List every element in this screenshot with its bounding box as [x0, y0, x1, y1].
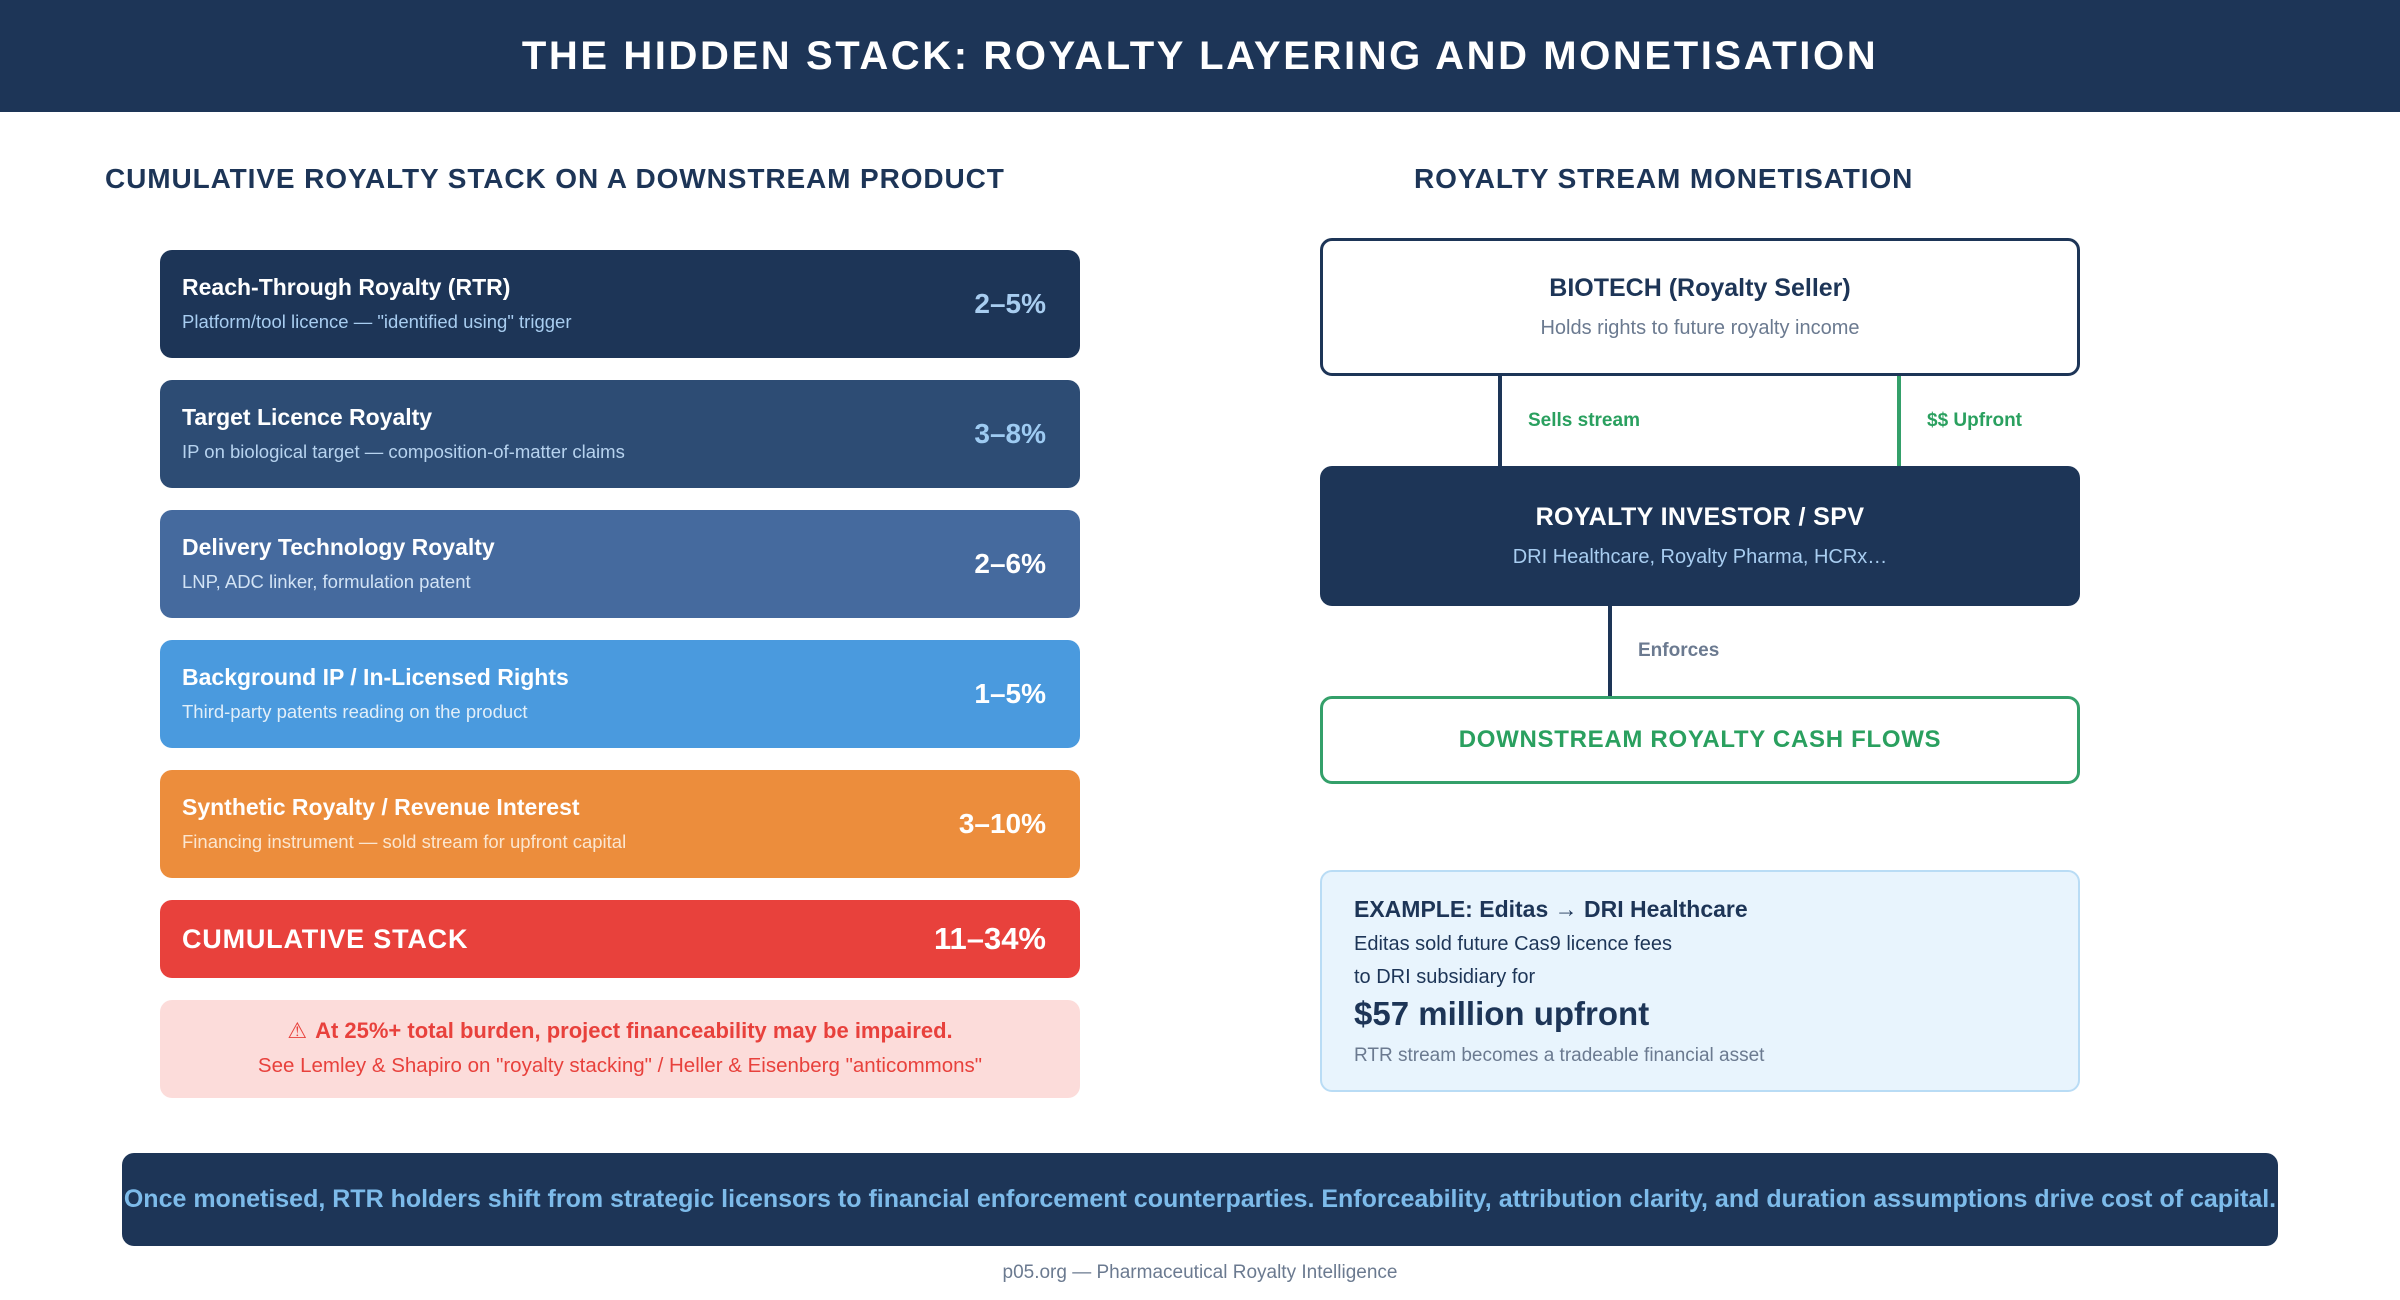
royalty-layer-row: Reach-Through Royalty (RTR)Platform/tool…	[160, 250, 1080, 358]
royalty-stacking-warning: ⚠At 25%+ total burden, project financeab…	[160, 1000, 1080, 1098]
footer-note: p05.org — Pharmaceutical Royalty Intelli…	[0, 1262, 2400, 1284]
warning-primary-label: At 25%+ total burden, project financeabi…	[315, 1018, 953, 1043]
connector-line-enforces	[1608, 606, 1612, 696]
royalty-layer-sublabel: LNP, ADC linker, formulation patent	[182, 572, 954, 592]
connector-label-upfront: $$ Upfront	[1927, 410, 2022, 432]
cumulative-stack-row: CUMULATIVE STACK11–34%	[160, 900, 1080, 978]
example-line-1: Editas sold future Cas9 licence fees	[1354, 933, 2046, 956]
flow-node-spv: ROYALTY INVESTOR / SPV DRI Healthcare, R…	[1320, 466, 2080, 606]
royalty-layer-rate: 2–5%	[954, 288, 1046, 320]
royalty-layer-text: Background IP / In-Licensed RightsThird-…	[182, 665, 954, 723]
royalty-layer-rate: 3–8%	[954, 418, 1046, 450]
connector-band-sell: Sells stream $$ Upfront	[1320, 376, 2080, 466]
royalty-layer-rate: 3–10%	[939, 808, 1046, 840]
royalty-stack-list: Reach-Through Royalty (RTR)Platform/tool…	[160, 250, 1080, 1098]
example-footnote: RTR stream becomes a tradeable financial…	[1354, 1045, 2046, 1067]
royalty-layer-label: Reach-Through Royalty (RTR)	[182, 275, 954, 300]
summary-banner: Once monetised, RTR holders shift from s…	[122, 1153, 2278, 1246]
royalty-layer-sublabel: IP on biological target — composition-of…	[182, 442, 954, 462]
left-column-heading: CUMULATIVE ROYALTY STACK ON A DOWNSTREAM…	[105, 163, 1005, 195]
warning-citation-text: See Lemley & Shapiro on "royalty stackin…	[180, 1054, 1060, 1078]
royalty-layer-label: Target Licence Royalty	[182, 405, 954, 430]
royalty-layer-text: Target Licence RoyaltyIP on biological t…	[182, 405, 954, 463]
summary-banner-text: Once monetised, RTR holders shift from s…	[124, 1185, 2276, 1214]
monetisation-flow: BIOTECH (Royalty Seller) Holds rights to…	[1320, 238, 2080, 784]
royalty-layer-row: Background IP / In-Licensed RightsThird-…	[160, 640, 1080, 748]
royalty-layer-sublabel: Platform/tool licence — "identified usin…	[182, 312, 954, 332]
example-line-2: to DRI subsidiary for	[1354, 966, 2046, 989]
royalty-layer-text: Synthetic Royalty / Revenue InterestFina…	[182, 795, 939, 853]
warning-primary-text: ⚠At 25%+ total burden, project financeab…	[180, 1018, 1060, 1044]
connector-line-sells-stream	[1498, 376, 1502, 466]
header-bar: THE HIDDEN STACK: ROYALTY LAYERING AND M…	[0, 0, 2400, 112]
royalty-layer-row: Target Licence RoyaltyIP on biological t…	[160, 380, 1080, 488]
infographic-page: THE HIDDEN STACK: ROYALTY LAYERING AND M…	[0, 0, 2400, 1300]
flow-node-cash-flows-title: DOWNSTREAM ROYALTY CASH FLOWS	[1459, 726, 1942, 754]
royalty-layer-rate: 1–5%	[954, 678, 1046, 710]
royalty-layer-row: Synthetic Royalty / Revenue InterestFina…	[160, 770, 1080, 878]
cumulative-stack-label: CUMULATIVE STACK	[182, 924, 934, 955]
connector-label-sells-stream: Sells stream	[1528, 410, 1640, 432]
royalty-layer-label: Delivery Technology Royalty	[182, 535, 954, 560]
example-title: EXAMPLE: Editas → DRI Healthcare	[1354, 896, 2046, 923]
example-amount: $57 million upfront	[1354, 995, 2046, 1033]
connector-line-upfront	[1897, 376, 1901, 466]
right-column-heading: ROYALTY STREAM MONETISATION	[1414, 163, 1913, 195]
royalty-layer-rate: 2–6%	[954, 548, 1046, 580]
warning-icon: ⚠	[287, 1018, 307, 1043]
example-card: EXAMPLE: Editas → DRI Healthcare Editas …	[1320, 870, 2080, 1092]
royalty-layer-text: Reach-Through Royalty (RTR)Platform/tool…	[182, 275, 954, 333]
flow-node-biotech-subtitle: Holds rights to future royalty income	[1540, 317, 1859, 340]
flow-node-biotech-title: BIOTECH (Royalty Seller)	[1549, 274, 1850, 303]
royalty-layer-label: Background IP / In-Licensed Rights	[182, 665, 954, 690]
page-title: THE HIDDEN STACK: ROYALTY LAYERING AND M…	[522, 34, 1878, 79]
royalty-layer-sublabel: Third-party patents reading on the produ…	[182, 702, 954, 722]
flow-node-spv-title: ROYALTY INVESTOR / SPV	[1536, 503, 1865, 532]
royalty-layer-text: Delivery Technology RoyaltyLNP, ADC link…	[182, 535, 954, 593]
royalty-layer-sublabel: Financing instrument — sold stream for u…	[182, 832, 939, 852]
cumulative-stack-rate: 11–34%	[934, 921, 1046, 957]
flow-node-biotech: BIOTECH (Royalty Seller) Holds rights to…	[1320, 238, 2080, 376]
connector-label-enforces: Enforces	[1638, 640, 1719, 662]
flow-node-spv-subtitle: DRI Healthcare, Royalty Pharma, HCRx…	[1513, 546, 1888, 569]
royalty-layer-label: Synthetic Royalty / Revenue Interest	[182, 795, 939, 820]
royalty-layer-row: Delivery Technology RoyaltyLNP, ADC link…	[160, 510, 1080, 618]
flow-node-cash-flows: DOWNSTREAM ROYALTY CASH FLOWS	[1320, 696, 2080, 784]
connector-band-enforce: Enforces	[1320, 606, 2080, 696]
